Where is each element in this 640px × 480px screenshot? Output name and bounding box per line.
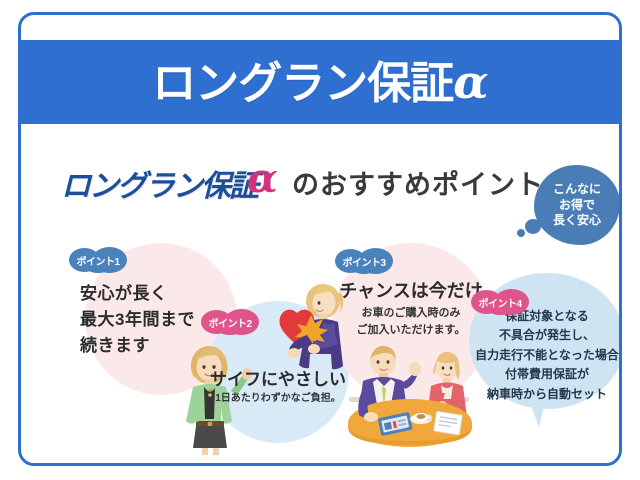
point-4-badge: ポイント4	[471, 289, 529, 315]
point-4-line-3: 自力走行不能となった場合	[461, 346, 622, 365]
point-4-block: ポイント4 保証対象となる 不具合が発生し、 自力走行不能となった場合 付帯費用…	[461, 267, 622, 447]
point-4-line-5: 納車時から自動セット	[461, 385, 622, 404]
point-4-line-4: 付帯費用保証が	[461, 365, 622, 384]
point-1-badge: ポイント1	[69, 247, 127, 273]
point-2-heading: サイフにやさしい	[193, 365, 363, 390]
subtitle-row: ロングラン保証 α のおすすめポイント	[49, 153, 597, 213]
point-1-line-3: 続きます	[80, 333, 240, 359]
point-4-text: 保証対象となる 不具合が発生し、 自力走行不能となった場合 付帯費用保証が 納車…	[461, 307, 622, 404]
catch-copy-line-1: こんなに	[553, 183, 601, 196]
subtitle-alpha: α	[247, 155, 278, 202]
catch-copy-lines: こんなに お得で 長く安心	[534, 165, 620, 245]
point-3-badge: ポイント3	[335, 248, 393, 274]
header-band: ロングラン保証α	[21, 40, 619, 124]
subtitle-rest: のおすすめポイント	[292, 163, 544, 202]
point-2-subtext: 1日あたりわずかなご負担。	[193, 389, 363, 404]
catch-copy-line-3: 長く安心	[553, 214, 601, 227]
point-2-badge: ポイント2	[201, 309, 259, 335]
point-4-line-2: 不具合が発生し、	[461, 326, 622, 345]
catch-copy-line-2: お得で	[559, 199, 595, 212]
catch-copy-bubble: こんなに お得で 長く安心	[534, 165, 620, 245]
point-1-line-1: 安心が長く	[80, 281, 240, 307]
point-4-badge-label: ポイント4	[471, 289, 529, 315]
point-3-badge-label: ポイント3	[335, 248, 393, 274]
page-title: ロングラン保証α	[152, 59, 487, 106]
couple-at-table-illustration	[343, 345, 477, 454]
poster-frame: ロングラン保証α ロングラン保証 α のおすすめポイント こんなに お得で 長く…	[18, 12, 622, 466]
header-title-alpha: α	[453, 55, 487, 109]
header-title-text: ロングラン保証	[152, 59, 453, 108]
point-1-badge-label: ポイント1	[69, 247, 127, 273]
subtitle-brand: ロングラン保証	[61, 161, 257, 205]
point-2-badge-label: ポイント2	[201, 309, 259, 335]
bubble-tail-dot-small	[517, 229, 525, 237]
